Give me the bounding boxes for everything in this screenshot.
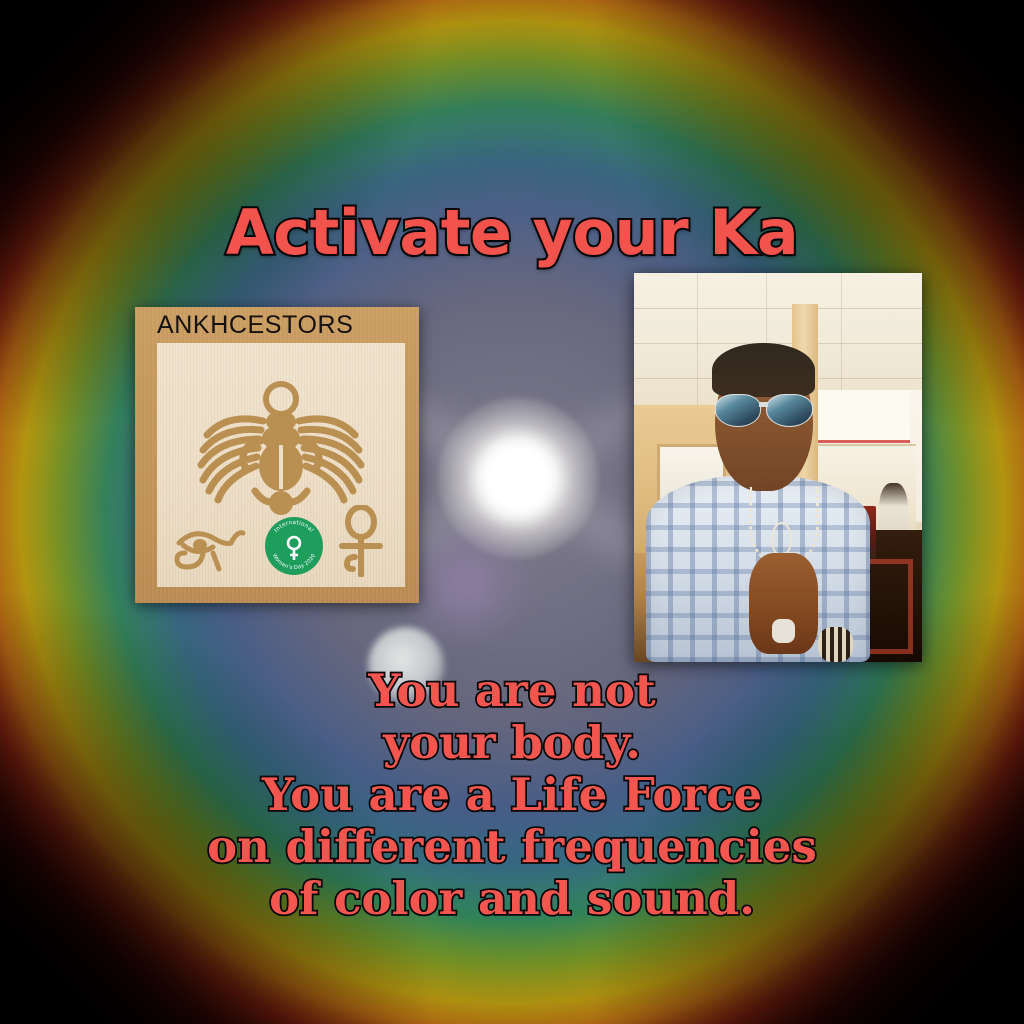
quote-line: your body. [0,717,1024,769]
svg-text:International: International [274,520,315,534]
photo-wall-sign [813,390,911,444]
quote-line: of color and sound. [0,873,1024,925]
quote-block: You are not your body. You are a Life Fo… [0,665,1024,925]
poster-canvas: Activate your Ka [0,0,1024,1024]
eye-of-horus-icon [173,521,247,573]
subject-photo [634,273,922,662]
sunglasses-right-lens [766,394,812,427]
venus-symbol-icon [288,537,300,560]
page-title: Activate your Ka [0,196,1024,269]
photo-subject-bracelet [818,627,853,662]
badge-top-text: International [274,520,315,534]
ankh-icon [335,505,387,577]
photo-ceiling-tile-line [697,273,698,421]
international-womens-day-badge: International Women's Day 2020 [265,517,323,575]
violet-lens-flare [400,530,530,640]
photo-ceiling-tile-line [634,308,922,309]
ankh-pendant-loop-icon [771,522,792,557]
quote-line: You are a Life Force [0,769,1024,821]
sunglasses-icon [715,394,813,425]
ankhcestors-plaque: International Women's Day 2020 ANKHCESTO… [135,307,419,603]
sunglasses-left-lens [715,394,761,427]
sunglasses-bridge [759,402,769,407]
photo-subject-ring [772,619,795,642]
plaque-brand-label: ANKHCESTORS [157,311,353,340]
quote-line: You are not [0,665,1024,717]
photo-subject-hair [712,343,816,397]
quote-line: on different frequencies [0,821,1024,873]
plaque-inner-panel: International Women's Day 2020 [157,343,405,587]
